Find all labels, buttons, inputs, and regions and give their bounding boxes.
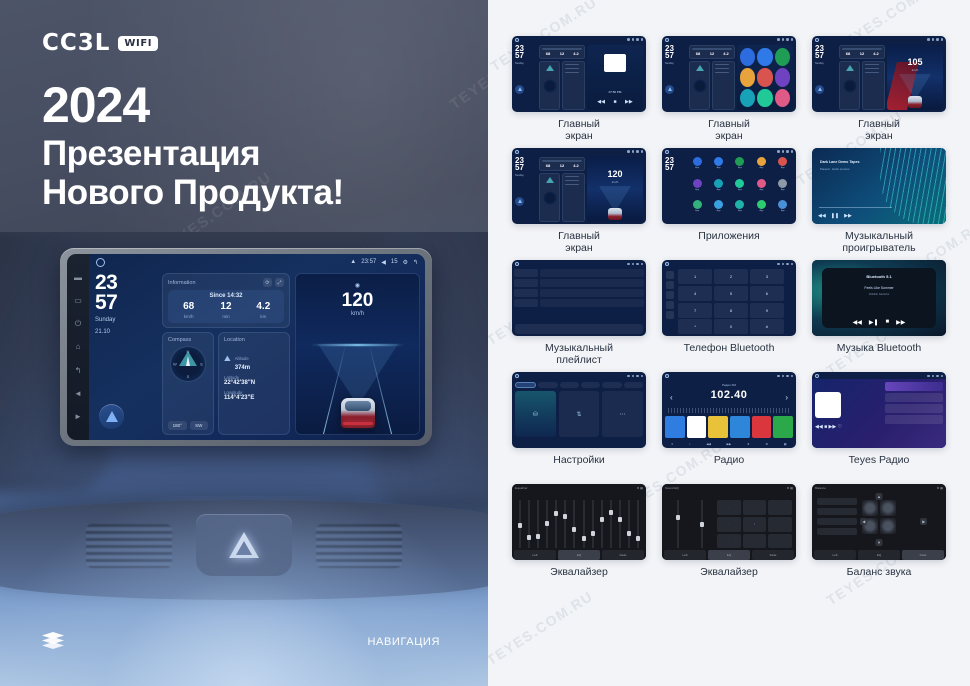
home-icon: [665, 38, 669, 42]
thumb-controls[interactable]: ◀◀❚❚▶▶: [818, 213, 852, 219]
grid-cell[interactable]: ◀◀ ■ ▶▶ ♡Teyes Радио: [810, 372, 948, 478]
status-dot: [786, 263, 789, 266]
thumbnail-grid: 2357Sunday68124.207:50 PM◀◀■▶▶Главныйэкр…: [510, 36, 948, 590]
status-dot: [627, 150, 630, 153]
status-dot: [786, 150, 789, 153]
thumbnail-caption: Главныйэкран: [558, 230, 600, 254]
status-dot: [932, 38, 935, 41]
prev-station-icon[interactable]: ‹: [670, 393, 673, 402]
thumb-eq-slider[interactable]: [598, 500, 605, 548]
car-dashboard-scene: ▬ ▭ ⏻ ⌂ ↰ ◄ ► ▲: [0, 232, 488, 686]
compass-widget[interactable]: Compass N S W E: [162, 332, 214, 435]
thumb-eq-slider[interactable]: [626, 500, 633, 548]
thumb-bt-track: Feels Like Summer: [864, 286, 893, 290]
thumb-clock: 2357Sunday: [515, 157, 537, 222]
thumbnail-screenshot[interactable]: 123456789*0#: [662, 260, 796, 336]
grid-cell[interactable]: ⛁⇅⋯Настройки: [510, 372, 648, 478]
thumb-eq-slider[interactable]: [525, 500, 532, 548]
thumb-dial-key[interactable]: 7: [678, 303, 712, 318]
thumb-app[interactable]: App: [774, 179, 792, 199]
grid-cell[interactable]: Музыкальныйплейлист: [510, 260, 648, 366]
status-dot: [632, 375, 635, 378]
thumb-settings-tab[interactable]: [538, 382, 557, 388]
screen-body: 23 57 Sunday 21.10 Information: [89, 270, 425, 440]
thumb-eq-pad[interactable]: ·: [717, 517, 741, 532]
thumb-settings-tab[interactable]: [515, 382, 536, 388]
grid-cell[interactable]: 2357Sunday68124.207:50 PM◀◀■▶▶Главныйэкр…: [510, 36, 648, 142]
status-dot: [632, 263, 635, 266]
thumb-app[interactable]: App: [688, 179, 706, 199]
thumb-speed-value: 105: [907, 57, 922, 67]
thumb-dial-key[interactable]: 4: [678, 286, 712, 301]
thumb-settings-tab[interactable]: [624, 382, 643, 388]
thumb-app-icon: [775, 89, 790, 107]
thumb-eq-pad[interactable]: ·: [768, 517, 792, 532]
thumb-radio-preset[interactable]: [665, 416, 685, 438]
thumb-eq-slider[interactable]: [534, 500, 541, 548]
thumb-dial-key[interactable]: 9: [750, 303, 784, 318]
thumb-app-icon: [757, 89, 772, 107]
watermark: TEYES.COM.RU: [488, 588, 596, 669]
thumb-info-card: 68124.2: [839, 45, 885, 59]
status-time: 23:57: [361, 259, 376, 265]
grid-cell[interactable]: Sound EQ⚙ ▦····♪····LeftEQFadeЭквалайзер: [660, 484, 798, 590]
thumb-app[interactable]: App: [752, 157, 770, 177]
thumb-widgets: 68124.2: [539, 157, 585, 222]
thumb-app[interactable]: App: [731, 157, 749, 177]
thumbnail-screenshot[interactable]: Sound EQ⚙ ▦····♪····LeftEQFade: [662, 484, 796, 560]
hero-panel: TEYES.COM.RU TEYES.COM.RU TEYES.COM.RU T…: [0, 0, 488, 686]
thumb-eq-slider[interactable]: [571, 500, 578, 548]
thumb-balance-pad[interactable]: [862, 500, 896, 534]
hero-footer: НАВИГАЦИЯ: [0, 624, 488, 650]
thumb-radio-item[interactable]: [885, 382, 943, 391]
thumb-stat: 12: [856, 51, 868, 56]
clock-weekday: Sunday: [95, 317, 157, 325]
car-illustration: [341, 398, 375, 428]
thumb-radio-preset[interactable]: [773, 416, 793, 438]
thumb-clock-minute: 57: [665, 52, 687, 59]
thumb-eq2-pads: ····♪····: [717, 500, 792, 548]
thumb-speed-unit: km/h: [912, 68, 919, 72]
thumb-status-bar: [512, 372, 646, 379]
volume-down-button[interactable]: ◄: [74, 389, 83, 398]
thumb-app-icon: [775, 48, 790, 66]
thumbnail-screenshot[interactable]: 2357Sunday68124.207:50 PM◀◀■▶▶: [512, 36, 646, 112]
compass-south: S: [187, 374, 190, 379]
compass-needle: [186, 356, 190, 366]
status-dot: [636, 38, 639, 41]
thumb-radio-item[interactable]: [885, 404, 943, 413]
home-icon: [665, 150, 669, 154]
status-dot: [636, 263, 639, 266]
thumb-status-bar: [662, 36, 796, 43]
status-dot: [791, 263, 794, 266]
status-dot: [627, 375, 630, 378]
thumb-stat: 68: [842, 51, 854, 56]
thumb-nav-fab[interactable]: [815, 85, 824, 94]
balance-right-icon[interactable]: ▶: [920, 518, 927, 525]
grid-cell[interactable]: 123456789*0#Телефон Bluetooth: [660, 260, 798, 366]
thumb-eq-pad[interactable]: ·: [768, 534, 792, 549]
status-dot: [932, 375, 935, 378]
thumb-eq-slider[interactable]: [553, 500, 560, 548]
balance-left-icon[interactable]: ◀: [860, 518, 867, 525]
thumb-stat: 4.2: [870, 51, 882, 56]
thumb-app-icon: [740, 68, 755, 86]
information-card[interactable]: Information ⟳ ⤢ Since 14:32: [162, 273, 290, 328]
thumb-music-widget: 07:50 PM◀◀■▶▶: [587, 45, 643, 110]
altitude-label: Altitude: [235, 356, 249, 361]
thumbnail-screenshot[interactable]: ◀◀ ■ ▶▶ ♡: [812, 372, 946, 448]
thumb-app[interactable]: App: [731, 200, 749, 220]
status-dot: [786, 38, 789, 41]
thumb-eq-pad[interactable]: ·: [717, 534, 741, 549]
thumb-dial-key[interactable]: 3: [750, 269, 784, 284]
layers-icon: [42, 632, 64, 650]
volume-level: 15: [391, 259, 398, 265]
thumb-clock: 2357Sunday: [665, 45, 687, 110]
thumb-clock-minute: 57: [515, 52, 537, 59]
wifi-badge: WIFI: [118, 36, 158, 51]
expand-icon[interactable]: ⤢: [275, 278, 284, 287]
thumb-nav-fab[interactable]: [515, 197, 524, 206]
thumb-location: [862, 61, 885, 111]
thumbnail-caption: Музыка Bluetooth: [837, 342, 921, 366]
thumb-dial-key[interactable]: 0: [714, 319, 748, 334]
grid-cell[interactable]: Balance⚙ ▦▲▼◀▶LeftEQFadeБаланс звука: [810, 484, 948, 590]
grid-cell[interactable]: Bluetooth 5.1Feels Like SummerChildish G…: [810, 260, 948, 366]
altitude-group: Altitude 374m: [235, 347, 250, 371]
thumb-stat: 4.2: [570, 51, 582, 56]
back-button[interactable]: ↰: [74, 366, 83, 375]
thumbnail-caption: Главныйэкран: [558, 118, 600, 142]
home-icon: [815, 374, 819, 378]
stat-unit: min: [207, 314, 244, 319]
thumb-eq-slider[interactable]: [617, 500, 624, 548]
thumb-app[interactable]: App: [752, 200, 770, 220]
thumb-status-bar: [812, 36, 946, 43]
layer-shape: [42, 642, 64, 649]
thumb-radio-preset[interactable]: [708, 416, 728, 438]
thumb-app[interactable]: App: [688, 200, 706, 220]
thumbnail-screenshot[interactable]: Bluetooth 5.1Feels Like SummerChildish G…: [812, 260, 946, 336]
status-dot: [927, 38, 930, 41]
thumb-dial-key[interactable]: 6: [750, 286, 784, 301]
thumbnail-screenshot[interactable]: 2357Sunday68124.2105km/h: [812, 36, 946, 112]
speed-widget[interactable]: ◉ 120 km/h: [295, 273, 420, 435]
thumb-dial-key[interactable]: 2: [714, 269, 748, 284]
thumb-clock-sub: Sunday: [515, 62, 537, 65]
status-dot: [791, 150, 794, 153]
thumb-stat: 12: [556, 51, 568, 56]
thumb-dial-key[interactable]: 8: [714, 303, 748, 318]
thumb-info-card: 68124.2: [539, 157, 585, 171]
thumb-location: [712, 61, 735, 111]
stat-value: 12: [207, 302, 244, 312]
brand-logo: CC3L WIFI: [42, 30, 158, 56]
status-dot: [782, 38, 785, 41]
thumb-radio-item[interactable]: [885, 393, 943, 402]
grid-cell[interactable]: 2357AppAppAppAppAppAppAppAppAppAppAppApp…: [660, 148, 798, 254]
navigation-arrow-icon: [106, 411, 118, 422]
thumb-radio-band: Радио FM: [722, 383, 736, 387]
thumb-clock-sub: Sunday: [665, 62, 687, 65]
mic-button[interactable]: ▬: [74, 273, 83, 282]
thumb-clock-minute: 57: [815, 52, 837, 59]
altitude-value: 374m: [235, 365, 250, 371]
speed-value: 120: [342, 291, 374, 310]
thumb-nav-fab[interactable]: [515, 85, 524, 94]
navigation-fab-button[interactable]: [99, 404, 124, 429]
mode-button[interactable]: ▭: [74, 296, 83, 305]
trip-stats: 68 km/h 12 min 4.2: [170, 302, 282, 319]
trip-since: Since 14:32: [170, 293, 282, 299]
thumb-balance-labels: [817, 498, 857, 535]
thumb-clock-minute: 57: [515, 164, 537, 171]
status-dot: [786, 375, 789, 378]
thumb-settings-card[interactable]: ⋯: [602, 391, 643, 437]
lower-widgets: Compass N S W E: [162, 332, 290, 435]
thumb-track-title: Dark Lane Demo Tapes: [820, 160, 859, 164]
thumb-dial-key[interactable]: 1: [678, 269, 712, 284]
thumb-compass: [689, 61, 710, 111]
status-dot: [791, 38, 794, 41]
stat-unit: km: [245, 314, 282, 319]
status-icons: [627, 263, 643, 266]
trip-stat: 12 min: [207, 302, 244, 319]
thumbnail-caption: Радио: [714, 454, 744, 478]
stat-value: 68: [170, 302, 207, 312]
watermark: TEYES.COM.RU: [447, 24, 488, 114]
status-bar-left: [96, 258, 105, 267]
gear-icon[interactable]: ⚙: [403, 259, 408, 266]
longitude-value: 114°4'23"E: [224, 395, 284, 401]
thumb-eq-slider[interactable]: [580, 500, 587, 548]
clock-hour: 23: [95, 273, 157, 293]
presentation-page: TEYES.COM.RU TEYES.COM.RU TEYES.COM.RU T…: [0, 0, 970, 686]
thumb-status-bar: [662, 260, 796, 267]
wifi-icon: ▲: [350, 259, 356, 265]
thumb-status-bar: [812, 372, 946, 379]
thumb-speed-unit: km/h: [612, 180, 619, 184]
home-icon: [515, 38, 519, 42]
title-line-1: Презентация: [42, 134, 344, 173]
grid-cell[interactable]: Dark Lane Demo TapesPaused · Audio previ…: [810, 148, 948, 254]
status-dot: [632, 150, 635, 153]
grid-cell[interactable]: Equalizer⚙ ▦LeftEQFadeЭквалайзер: [510, 484, 648, 590]
thumb-player-bar[interactable]: [515, 324, 643, 334]
mountain-icon: ⛰: [224, 354, 231, 364]
thumb-stat: 68: [692, 51, 704, 56]
thumb-app[interactable]: App: [709, 179, 727, 199]
thumb-dialer: 123456789*0#: [662, 267, 796, 336]
thumbnail-caption: Телефон Bluetooth: [684, 342, 775, 366]
thumb-eq-slider[interactable]: [562, 500, 569, 548]
thumbnail-caption: Настройки: [553, 454, 605, 478]
thumb-bt-label: Bluetooth 5.1: [866, 274, 891, 279]
thumb-bt-controls[interactable]: ◀◀▶❚■▶▶: [853, 319, 906, 326]
thumb-stat: 68: [542, 51, 554, 56]
thumb-compass: [539, 61, 560, 111]
thumb-speed-widget: 120km/h: [587, 157, 643, 222]
thumb-app-icon: [775, 68, 790, 86]
thumb-app-grid: AppAppAppAppAppAppAppAppAppAppAppAppAppA…: [686, 155, 794, 222]
compass-dial: N S W E: [170, 346, 206, 382]
head-unit-screen[interactable]: ▲ 23:57 ◀ 15 ⚙ ↰ 23 57 Sunday: [89, 254, 425, 440]
stat-unit: km/h: [170, 314, 207, 319]
thumb-widgets: 68124.2: [689, 45, 735, 110]
thumb-settings-tab[interactable]: [560, 382, 579, 388]
thumb-radio-preset[interactable]: [752, 416, 772, 438]
thumb-eq-pad[interactable]: ·: [743, 534, 767, 549]
compass-readouts: 180° SW: [168, 421, 208, 430]
status-dot: [777, 375, 780, 378]
thumb-info-card: 68124.2: [539, 45, 585, 59]
title-line-2: Нового Продукта!: [42, 173, 344, 212]
thumbnail-screenshot[interactable]: [512, 260, 646, 336]
thumb-radio-freq: 102.40: [711, 389, 748, 401]
thumb-eq-slider[interactable]: [607, 500, 614, 548]
thumbnail-screenshot[interactable]: 2357Sunday68124.2120km/h: [512, 148, 646, 224]
back-icon[interactable]: ↰: [413, 259, 418, 266]
thumbnail-screenshot[interactable]: ⛁⇅⋯: [512, 372, 646, 448]
thumb-app[interactable]: App: [752, 179, 770, 199]
thumb-eq-slider[interactable]: [589, 500, 596, 548]
head-unit-side-buttons[interactable]: ▬ ▭ ⏻ ⌂ ↰ ◄ ►: [67, 254, 89, 440]
thumb-dial-key[interactable]: 5: [714, 286, 748, 301]
thumbnail-caption: Эквалайзер: [550, 566, 608, 590]
home-icon: [515, 262, 519, 266]
thumbnail-screenshot[interactable]: 2357Sunday68124.2: [662, 36, 796, 112]
trip-stat: 4.2 km: [245, 302, 282, 319]
status-icons: [777, 263, 793, 266]
status-icons: [627, 38, 643, 41]
grid-cell[interactable]: Радио FM‹102.40›≡⌕◀◀▶▶★⚙▦Радио: [660, 372, 798, 478]
information-body: Since 14:32 68 km/h 12 min: [168, 290, 284, 323]
thumbnail-screenshot[interactable]: Balance⚙ ▦▲▼◀▶LeftEQFade: [812, 484, 946, 560]
status-icons: [927, 38, 943, 41]
thumb-clock-sub: Sunday: [515, 174, 537, 177]
status-icons: [927, 375, 943, 378]
grid-cell[interactable]: 2357Sunday68124.2105km/hГлавныйэкран: [810, 36, 948, 142]
thumbnail-screenshot[interactable]: 2357AppAppAppAppAppAppAppAppAppAppAppApp…: [662, 148, 796, 224]
status-dot: [791, 375, 794, 378]
thumb-eq-pad[interactable]: ·: [717, 500, 741, 515]
clock-widget[interactable]: 23 57 Sunday 21.10: [95, 273, 157, 435]
status-dot: [936, 38, 939, 41]
thumb-nav-fab[interactable]: [665, 85, 674, 94]
thumb-speed-widget: 105km/h: [887, 45, 943, 110]
latitude-row: Latitude 22°42'38"N: [224, 375, 284, 386]
thumb-app[interactable]: App: [731, 179, 749, 199]
thumb-status-bar: [662, 372, 796, 379]
thumb-stat: 4.2: [570, 163, 582, 168]
thumb-radio-preset[interactable]: [730, 416, 750, 438]
thumb-settings-tab[interactable]: [602, 382, 621, 388]
speed-unit: km/h: [351, 311, 364, 317]
thumbnail-screenshot[interactable]: Equalizer⚙ ▦LeftEQFade: [512, 484, 646, 560]
thumb-eq-slider[interactable]: [635, 500, 642, 548]
status-bar: ▲ 23:57 ◀ 15 ⚙ ↰: [89, 254, 425, 270]
home-icon[interactable]: [96, 258, 105, 267]
home-icon: [665, 262, 669, 266]
information-card-actions: ⟳ ⤢: [263, 278, 284, 287]
thumb-clock: 2357Sunday: [815, 45, 837, 110]
grid-cell[interactable]: 2357Sunday68124.2Главныйэкран: [660, 36, 798, 142]
volume-up-button[interactable]: ►: [74, 412, 83, 421]
longitude-row: Longitude 114°4'23"E: [224, 390, 284, 401]
refresh-icon[interactable]: ⟳: [263, 278, 272, 287]
location-widget[interactable]: Location ⛰ Altitude 374m: [218, 332, 290, 435]
thumbnail-caption: Эквалайзер: [700, 566, 758, 590]
thumbnail-caption: Приложения: [698, 230, 759, 254]
altitude-row: ⛰ Altitude 374m: [224, 347, 284, 371]
balance-up-icon[interactable]: ▲: [876, 493, 883, 500]
thumb-app[interactable]: App: [709, 157, 727, 177]
compass-west: W: [173, 362, 177, 367]
home-button[interactable]: ⌂: [74, 342, 83, 351]
thumb-app[interactable]: App: [709, 200, 727, 220]
compass-direction: SW: [190, 421, 209, 430]
clock-date: 21.10: [95, 329, 157, 337]
thumb-stat: 12: [556, 163, 568, 168]
status-dot: [936, 375, 939, 378]
thumb-widgets: 68124.2: [539, 45, 585, 110]
thumb-teyes-radio: ◀◀ ■ ▶▶ ♡: [812, 379, 946, 448]
thumb-eq-pad[interactable]: ♪: [743, 517, 767, 532]
thumbnail-screenshot[interactable]: Радио FM‹102.40›≡⌕◀◀▶▶★⚙▦: [662, 372, 796, 448]
thumb-clock: 2357Sunday: [515, 45, 537, 110]
status-dot: [636, 150, 639, 153]
thumb-eq-sliders: [516, 500, 642, 548]
thumb-eq-slider[interactable]: [543, 500, 550, 548]
thumb-app[interactable]: App: [774, 157, 792, 177]
status-dot: [632, 38, 635, 41]
status-bar-right: ▲ 23:57 ◀ 15 ⚙ ↰: [350, 259, 418, 266]
power-button[interactable]: ⏻: [74, 319, 83, 328]
status-dot: [641, 263, 644, 266]
balance-down-icon[interactable]: ▼: [876, 539, 883, 546]
thumbnail-screenshot[interactable]: Dark Lane Demo TapesPaused · Audio previ…: [812, 148, 946, 224]
thumb-stat: 68: [542, 163, 554, 168]
thumb-dial-key[interactable]: #: [750, 319, 784, 334]
thumb-app-icon: [757, 48, 772, 66]
next-station-icon[interactable]: ›: [785, 393, 788, 402]
thumb-dial-key[interactable]: *: [678, 319, 712, 334]
thumb-eq-pad[interactable]: ·: [743, 500, 767, 515]
thumb-location: [562, 61, 585, 111]
thumb-eq-slider[interactable]: [516, 500, 523, 548]
thumb-app[interactable]: App: [774, 200, 792, 220]
thumb-settings: ⛁⇅⋯: [512, 379, 646, 448]
thumb-settings-card[interactable]: ⇅: [559, 391, 600, 437]
status-icons: [627, 150, 643, 153]
thumb-app[interactable]: App: [688, 157, 706, 177]
thumb-status-bar: [662, 148, 796, 155]
thumb-settings-card[interactable]: ⛁: [515, 391, 556, 437]
thumb-settings-tab[interactable]: [581, 382, 600, 388]
thumb-radio-preset[interactable]: [687, 416, 707, 438]
thumb-radio-item[interactable]: [885, 415, 943, 424]
thumb-apps-widget: [737, 45, 793, 110]
status-dot: [782, 375, 785, 378]
speed-icon: ◉: [355, 282, 360, 289]
thumb-eq-pad[interactable]: ·: [768, 500, 792, 515]
grid-cell[interactable]: 2357Sunday68124.2120km/hГлавныйэкран: [510, 148, 648, 254]
status-dot: [627, 263, 630, 266]
thumbnail-caption: Teyes Радио: [849, 454, 910, 478]
